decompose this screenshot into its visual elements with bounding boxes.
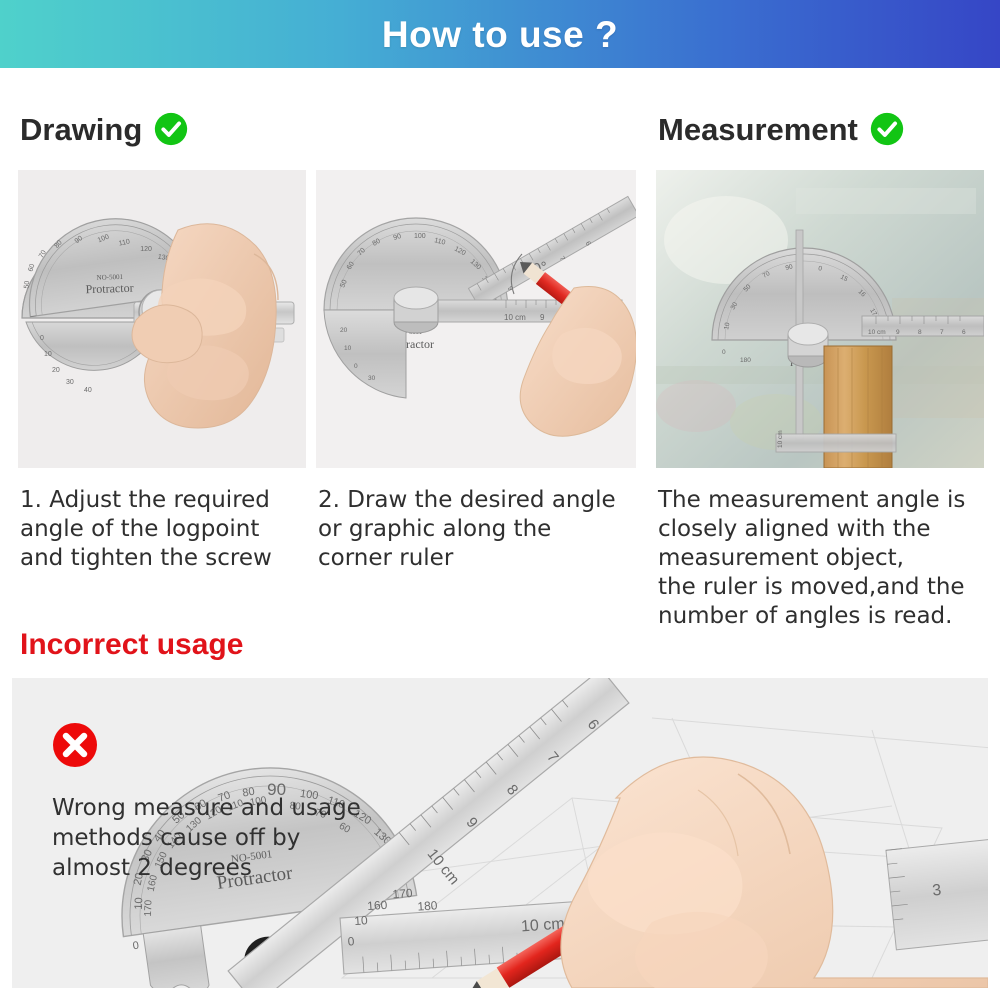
incorrect-usage-note: Wrong measure and usage methods cause of… — [52, 722, 412, 884]
hand-adjusting-protractor-photo: NO-5001 Protractor 90 100 110 120 130 80… — [18, 170, 306, 468]
svg-text:20: 20 — [52, 367, 60, 374]
svg-text:10: 10 — [44, 351, 52, 358]
svg-text:180: 180 — [740, 357, 751, 364]
caption-line: 2. Draw the desired angle — [318, 486, 628, 515]
svg-text:170: 170 — [143, 899, 155, 916]
svg-text:8: 8 — [918, 329, 922, 336]
warning-text: Wrong measure and usage methods cause of… — [52, 794, 412, 884]
svg-text:10: 10 — [354, 913, 369, 928]
svg-text:0: 0 — [354, 363, 358, 370]
svg-text:9: 9 — [896, 329, 900, 336]
x-circle-icon — [52, 722, 98, 768]
svg-text:0: 0 — [40, 335, 44, 342]
pivot-knob — [788, 323, 828, 367]
caption-step-3: The measurement angle is closely aligned… — [658, 486, 993, 631]
caption-line: the ruler is moved,and the — [658, 573, 993, 602]
svg-text:10 cm: 10 cm — [777, 430, 784, 448]
infographic-page: How to use ? Drawing Measurement — [0, 0, 1000, 1000]
panel3-illustration: 10 30 50 70 90 0 15 16 17 18 0180 P — [656, 170, 984, 468]
pencil-drawing-angle-photo: NO-5001 Protractor 50 60 70 80 90 100 11… — [316, 170, 636, 468]
svg-text:100: 100 — [414, 233, 426, 240]
warning-line: almost 2 degrees — [52, 854, 412, 884]
svg-text:10: 10 — [344, 345, 352, 352]
section-heading-incorrect: Incorrect usage — [20, 630, 243, 660]
pivot-knob — [394, 287, 438, 333]
svg-text:180: 180 — [417, 898, 438, 913]
caption-step-2: 2. Draw the desired angle or graphic alo… — [318, 486, 628, 573]
panel1-illustration: NO-5001 Protractor 90 100 110 120 130 80… — [18, 170, 306, 468]
check-circle-icon — [870, 112, 904, 146]
caption-line: measurement object, — [658, 544, 993, 573]
svg-text:30: 30 — [66, 379, 74, 386]
caption-line: number of angles is read. — [658, 602, 993, 631]
caption-line: and tighten the screw — [20, 544, 310, 573]
svg-text:170: 170 — [392, 886, 413, 901]
caption-line: angle of the logpoint — [20, 515, 310, 544]
svg-text:30: 30 — [368, 375, 376, 382]
svg-text:9: 9 — [540, 313, 545, 322]
caption-line: 1. Adjust the required — [20, 486, 310, 515]
svg-text:7: 7 — [940, 329, 944, 336]
caption-line: or graphic along the — [318, 515, 628, 544]
svg-text:3: 3 — [932, 882, 943, 900]
svg-text:20: 20 — [340, 327, 348, 334]
svg-text:10 cm: 10 cm — [504, 313, 526, 322]
caption-step-1: 1. Adjust the required angle of the logp… — [20, 486, 310, 573]
svg-text:160: 160 — [367, 898, 388, 913]
section-heading-measurement: Measurement — [658, 112, 904, 146]
svg-text:50: 50 — [23, 280, 31, 289]
check-circle-icon — [154, 112, 188, 146]
caption-line: The measurement angle is — [658, 486, 993, 515]
svg-text:10 cm: 10 cm — [868, 329, 886, 336]
panel2-illustration: NO-5001 Protractor 50 60 70 80 90 100 11… — [316, 170, 636, 468]
warning-line: Wrong measure and usage — [52, 794, 412, 824]
warning-line: methods cause off by — [52, 824, 412, 854]
svg-text:0: 0 — [722, 349, 726, 356]
svg-text:120: 120 — [140, 246, 152, 253]
svg-text:6: 6 — [962, 329, 966, 336]
caption-line: corner ruler — [318, 544, 628, 573]
section-label-drawing: Drawing — [20, 114, 142, 145]
section-heading-drawing: Drawing — [20, 112, 188, 146]
measuring-wood-block-photo: 10 30 50 70 90 0 15 16 17 18 0180 P — [656, 170, 984, 468]
page-header: How to use ? — [0, 0, 1000, 68]
svg-text:40: 40 — [84, 387, 92, 394]
svg-text:0: 0 — [347, 934, 355, 948]
svg-text:Protractor: Protractor — [85, 281, 133, 297]
section-label-measurement: Measurement — [658, 114, 858, 145]
caption-line: closely aligned with the — [658, 515, 993, 544]
page-title: How to use ? — [382, 16, 618, 53]
